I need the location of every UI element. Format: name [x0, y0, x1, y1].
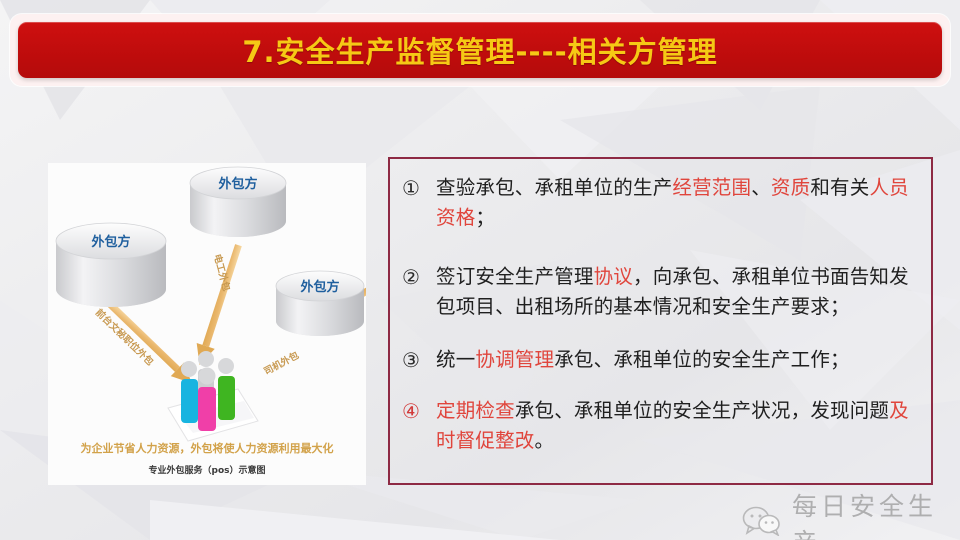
diagram-caption-sub: 专业外包服务（pos）示意图 — [149, 464, 266, 476]
run-highlight: 资质 — [771, 176, 810, 199]
presentation-slide: 7.安全生产监督管理----相关方管理 — [0, 0, 960, 540]
node-outsourcing-party-left: 外包方 — [56, 223, 166, 307]
diagram-caption-main: 为企业节省人力资源，外包将使人力资源利用最大化 — [81, 441, 334, 455]
run-text: 统一 — [436, 348, 475, 371]
title-banner: 7.安全生产监督管理----相关方管理 — [18, 22, 942, 78]
node-outsourcing-party-center: 外包方 — [190, 167, 286, 237]
run-highlight: 协议 — [594, 265, 633, 288]
list-marker: ④ — [400, 396, 436, 426]
spacer — [400, 242, 917, 262]
list-item: ② 签订安全生产管理协议，向承包、承租单位书面告知发包项目、出租场所的基本情况和… — [400, 262, 917, 322]
run-text: 承包、承租单位的安全生产状况，发现问题 — [515, 399, 889, 422]
list-item: ③ 统一协调管理承包、承租单位的安全生产工作； — [400, 345, 917, 375]
page-title: 7.安全生产监督管理----相关方管理 — [242, 29, 717, 71]
run-highlight: 定期检查 — [436, 399, 515, 422]
list-item-text: 查验承包、承租单位的生产经营范围、资质和有关人员资格； — [436, 173, 917, 233]
run-text: 。 — [535, 429, 555, 452]
list-item: ① 查验承包、承租单位的生产经营范围、资质和有关人员资格； — [400, 173, 917, 233]
list-marker: ② — [400, 262, 436, 292]
watermark: 每日安全生产 — [742, 487, 960, 540]
run-text: 和有关 — [810, 176, 869, 199]
outsourcing-diagram: 前台文秘职位外包 电工外包 司机外包 外包方 外包方 — [48, 163, 366, 485]
node-label-right: 外包方 — [299, 279, 339, 295]
run-text: 查验承包、承租单位的生产 — [436, 176, 672, 199]
content-box: ① 查验承包、承租单位的生产经营范围、资质和有关人员资格； ② 签订安全生产管理… — [388, 157, 933, 485]
list-item-text: 统一协调管理承包、承租单位的安全生产工作； — [436, 345, 917, 375]
list-item-text: 签订安全生产管理协议，向承包、承租单位书面告知发包项目、出租场所的基本情况和安全… — [436, 262, 917, 322]
list-marker: ① — [400, 173, 436, 203]
run-highlight: 协调管理 — [475, 348, 554, 371]
wechat-icon — [742, 506, 782, 540]
run-text: ； — [475, 206, 495, 229]
run-text: 承包、承租单位的安全生产工作； — [554, 348, 850, 371]
run-highlight: 经营范围 — [672, 176, 751, 199]
spacer — [400, 331, 917, 345]
run-text: 签订安全生产管理 — [436, 265, 594, 288]
list-item: ④ 定期检查承包、承租单位的安全生产状况，发现问题及时督促整改。 — [400, 396, 917, 456]
spacer — [400, 384, 917, 396]
watermark-text: 每日安全生产 — [792, 487, 960, 540]
list-item-text: 定期检查承包、承租单位的安全生产状况，发现问题及时督促整改。 — [436, 396, 917, 456]
list-marker: ③ — [400, 345, 436, 375]
run-text: 、 — [751, 176, 771, 199]
node-label-left: 外包方 — [90, 234, 130, 250]
node-outsourcing-party-right: 外包方 — [276, 271, 364, 336]
node-label-center: 外包方 — [217, 176, 257, 192]
